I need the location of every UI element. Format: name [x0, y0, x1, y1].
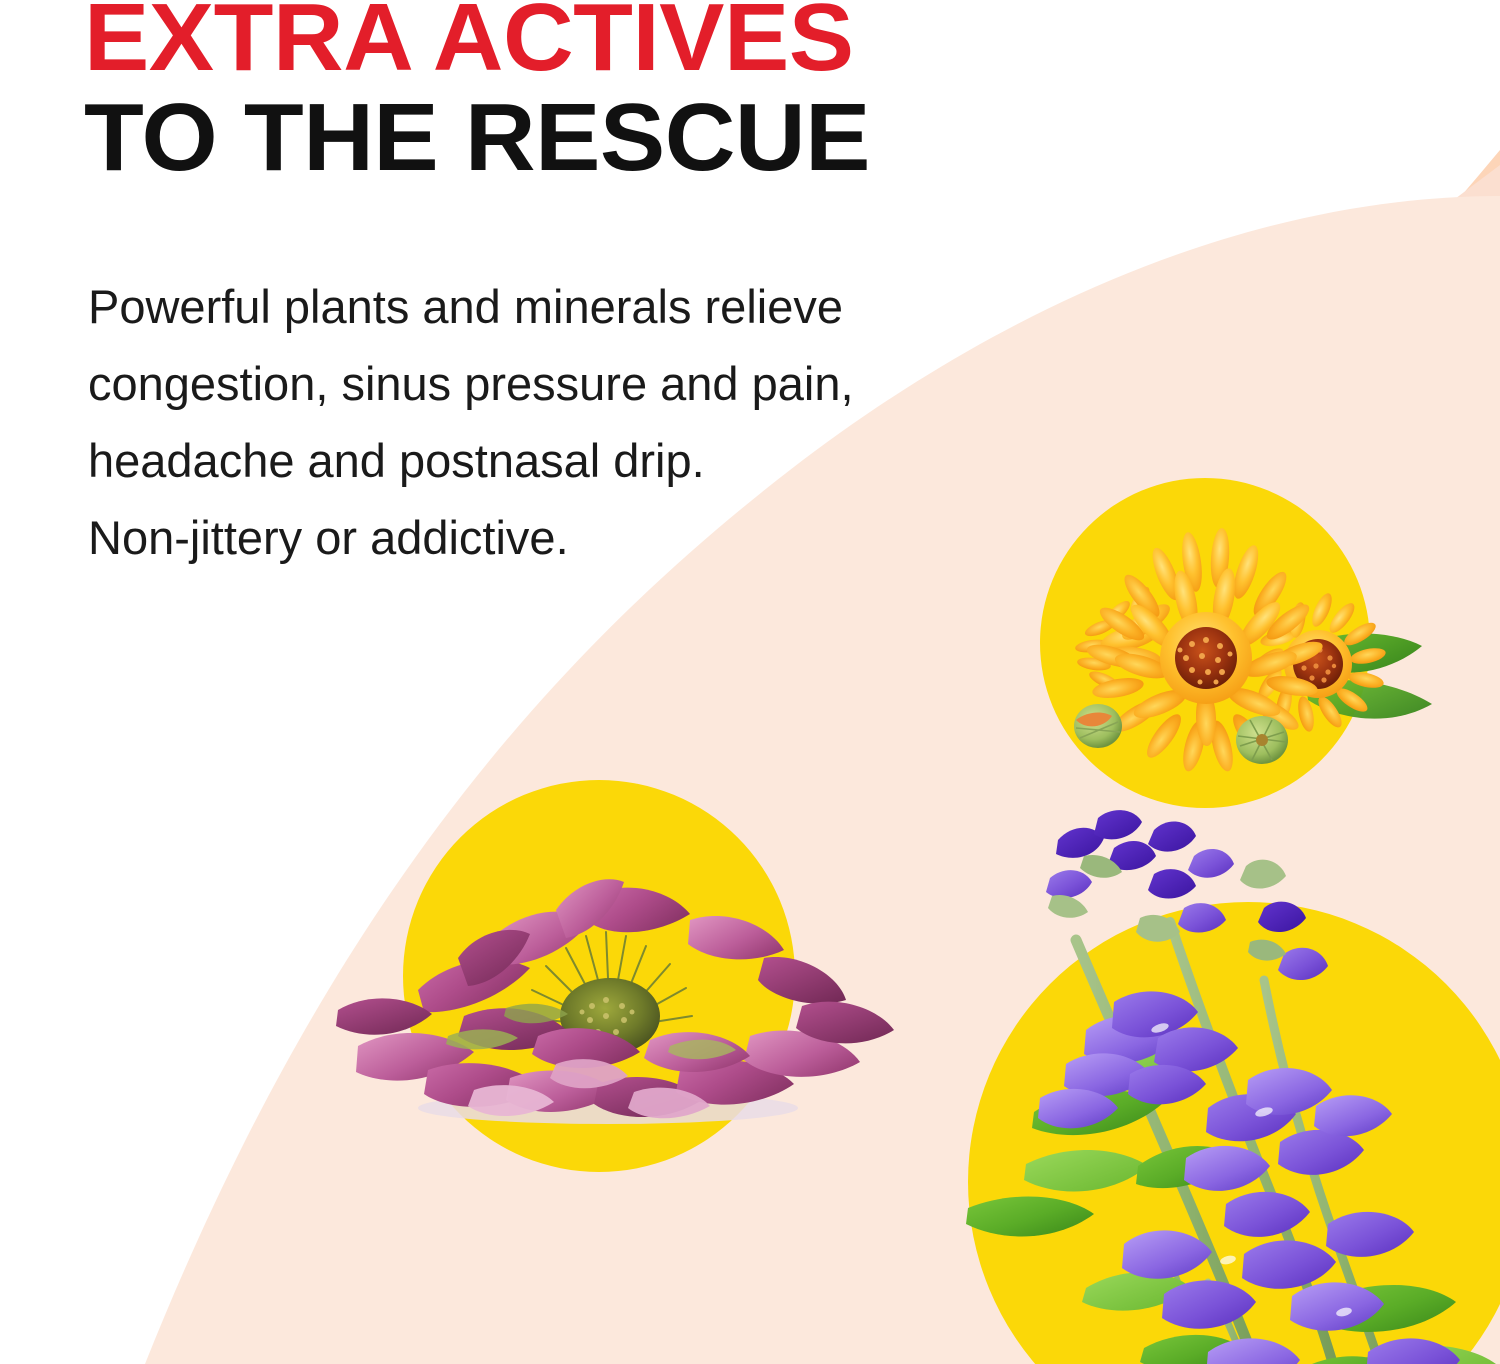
promo-banner: EXTRA ACTIVES TO THE RESCUE Powerful pla… — [0, 0, 1500, 1364]
headline-line-2: TO THE RESCUE — [84, 92, 870, 184]
calendula-seed-bud — [1236, 716, 1288, 764]
baptisia-buds-upper-right — [1240, 860, 1328, 980]
body-line: congestion, sinus pressure and pain, — [88, 345, 1048, 422]
medallion-calendula — [1040, 478, 1370, 808]
body-copy: Powerful plants and minerals relieve con… — [88, 268, 1048, 576]
baptisia-wild-indigo-illustration — [908, 812, 1500, 1364]
echinacea-dried-petals-illustration — [298, 840, 918, 1170]
body-line: Powerful plants and minerals relieve — [88, 268, 1048, 345]
body-line: headache and postnasal drip. — [88, 422, 1048, 499]
medallion-baptisia — [968, 902, 1500, 1364]
baptisia-flower-cluster-midright — [1184, 1068, 1392, 1237]
body-line: Non-jittery or addictive. — [88, 499, 1048, 576]
headline-line-1: EXTRA ACTIVES — [84, 0, 854, 84]
medallion-echinacea — [403, 780, 795, 1172]
calendula-flower-main — [1085, 527, 1326, 773]
baptisia-buds-top-left — [1046, 810, 1156, 918]
calendula-orange-bud — [1074, 704, 1122, 748]
baptisia-buds-top-mid — [1136, 821, 1234, 941]
